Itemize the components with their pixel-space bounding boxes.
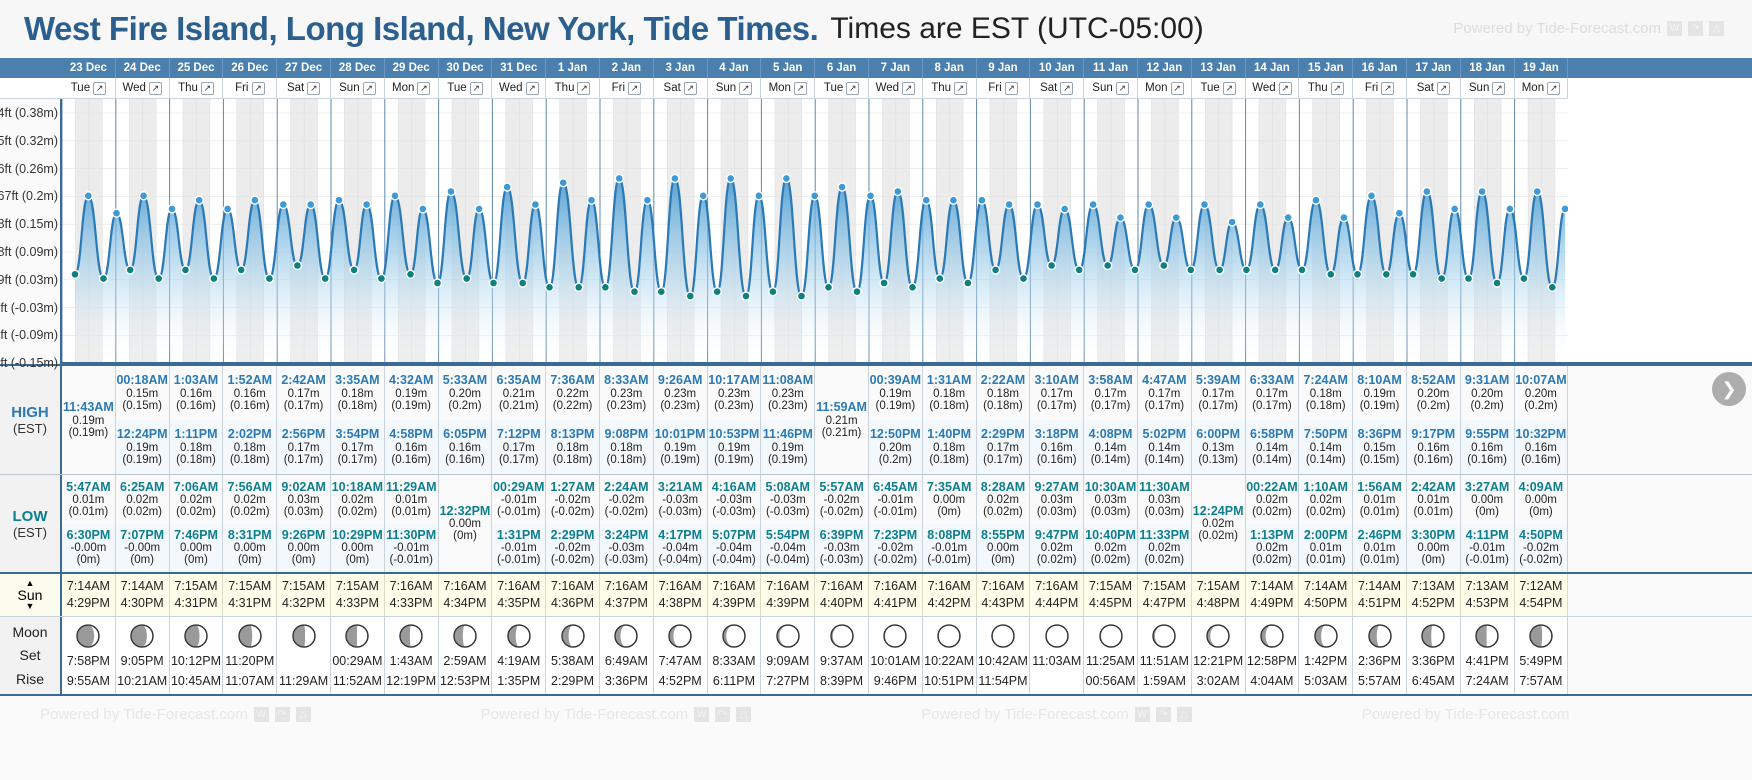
tide-height-alt: (0.18m) [553, 454, 593, 466]
date-header-18[interactable]: 10 Jan [1030, 58, 1084, 78]
tide-height: -0.01m [501, 494, 537, 506]
tide-time: 3:54PM [335, 428, 379, 441]
tide-height-alt: (-0.01m) [874, 506, 917, 518]
low-tide-event: 8:08PM-0.01m(-0.01m) [923, 524, 976, 573]
day-label: Thu [555, 82, 575, 94]
day-header-27[interactable]: Mon↗ [1515, 78, 1569, 99]
moon-phase-icon [936, 623, 962, 649]
tide-time: 10:07AM [1515, 374, 1566, 387]
expand-icon[interactable]: ↗ [628, 82, 641, 95]
date-header-16[interactable]: 8 Jan [923, 58, 977, 78]
tide-height-alt: (0.16m) [445, 454, 485, 466]
high-label-tz: (EST) [13, 421, 47, 436]
tide-time: 9:31AM [1465, 374, 1509, 387]
day-header-20[interactable]: Mon↗ [1138, 78, 1192, 99]
date-header-14[interactable]: 6 Jan [815, 58, 869, 78]
tide-time: 6:33AM [1250, 374, 1294, 387]
tide-height-alt: (-0.04m) [712, 554, 755, 566]
tide-time: 9:26AM [658, 374, 702, 387]
tide-height: 0.00m [1525, 494, 1557, 506]
tide-time: 7:23PM [873, 529, 917, 542]
moon-phase-icon [1313, 623, 1339, 649]
moon-cell: 12:58PM4:04AM [1246, 617, 1300, 694]
table-cell: 7:35AM0.00m(0m)8:08PM-0.01m(-0.01m) [923, 475, 977, 572]
expand-icon[interactable]: ↗ [1381, 82, 1394, 95]
date-header-26[interactable]: 18 Jan [1461, 58, 1515, 78]
date-header-20[interactable]: 12 Jan [1138, 58, 1192, 78]
table-cell: 1:10AM0.02m(0.02m)2:00PM0.01m(0.01m) [1299, 475, 1353, 572]
sunset-time: 4:29PM [67, 595, 110, 612]
tide-height-alt: (0m) [292, 554, 316, 566]
day-header-0[interactable]: Tue↗ [62, 78, 116, 99]
expand-icon[interactable]: ↗ [363, 82, 376, 95]
tide-height: 0.02m [1256, 494, 1288, 506]
expand-icon[interactable]: ↗ [526, 82, 539, 95]
tide-height: 0.20m [879, 442, 911, 454]
day-label: Mon [392, 82, 414, 94]
table-cell: 11:43AM0.19m(0.19m) [62, 366, 116, 474]
day-header-13[interactable]: Mon↗ [761, 78, 815, 99]
sun-cell: 7:16AM4:38PM [654, 574, 708, 616]
high-tide-event: 10:53PM0.19m(0.19m) [708, 420, 761, 474]
low-tide-event: 10:29PM0.00m(0m) [331, 524, 384, 573]
tide-height: 0.02m [341, 494, 373, 506]
expand-icon[interactable]: ↗ [1116, 82, 1129, 95]
moon-set-label: Set [19, 647, 40, 663]
expand-icon[interactable]: ↗ [201, 82, 214, 95]
moonset-time: 10:22AM [924, 654, 974, 669]
low-tide-event: 7:46PM0.00m(0m) [170, 524, 223, 573]
table-cell: 9:31AM0.20m(0.2m)9:55PM0.16m(0.16m) [1461, 366, 1515, 474]
day-header-11[interactable]: Sat↗ [654, 78, 708, 99]
day-header-10[interactable]: Fri↗ [600, 78, 654, 99]
date-header-5[interactable]: 28 Dec [331, 58, 385, 78]
date-header-2[interactable]: 25 Dec [170, 58, 224, 78]
tide-height-alt: (0.18m) [230, 454, 270, 466]
expand-icon[interactable]: ↗ [739, 82, 752, 95]
tide-height: 0.18m [987, 388, 1019, 400]
date-header-17[interactable]: 9 Jan [977, 58, 1031, 78]
moon-phase-icon [344, 623, 370, 649]
tide-height-alt: (0.2m) [1417, 400, 1450, 412]
table-cell: 9:26AM0.23m(0.23m)10:01PM0.19m(0.19m) [654, 366, 708, 474]
low-tide-event: 2:46PM0.01m(0.01m) [1353, 524, 1406, 573]
tide-height: 0.20m [449, 388, 481, 400]
low-tide-event: 7:35AM0.00m(0m) [923, 475, 976, 524]
high-tide-event: 9:26AM0.23m(0.23m) [654, 366, 707, 420]
high-tide-event: 10:17AM0.23m(0.23m) [708, 366, 761, 420]
table-cell: 7:24AM0.18m(0.18m)7:50PM0.14m(0.14m) [1299, 366, 1353, 474]
expand-icon[interactable]: ↗ [846, 82, 859, 95]
tide-height: 0.01m [72, 494, 104, 506]
y-tick-1: 1.05ft (0.32m) [0, 134, 58, 148]
sunrise-arrow-icon: ▲ [26, 580, 35, 587]
day-header-8[interactable]: Wed↗ [492, 78, 546, 99]
low-tide-event: 6:25AM0.02m(0.02m) [116, 475, 169, 524]
tide-height: 0.01m [1417, 494, 1449, 506]
day-header-5[interactable]: Sun↗ [331, 78, 385, 99]
day-label: Fri [1365, 82, 1378, 94]
tide-height: 0.00m [449, 518, 481, 530]
moonset-time: 10:01AM [870, 654, 920, 669]
tide-time: 3:58AM [1088, 374, 1132, 387]
table-cell: 2:42AM0.17m(0.17m)2:56PM0.17m(0.17m) [277, 366, 331, 474]
moonrise-time: 1:59AM [1143, 674, 1186, 689]
expand-icon[interactable]: ↗ [794, 82, 807, 95]
expand-icon[interactable]: ↗ [417, 82, 430, 95]
date-header-10[interactable]: 2 Jan [600, 58, 654, 78]
moon-cell: 2:59AM12:53PM [439, 617, 493, 694]
high-tide-event: 10:32PM0.16m(0.16m) [1515, 420, 1568, 474]
tide-height: 0.18m [557, 442, 589, 454]
tide-height-alt: (0m) [1529, 506, 1553, 518]
sun-cell: 7:16AM4:40PM [815, 574, 869, 616]
tide-height: 0.20m [1525, 388, 1557, 400]
expand-icon[interactable]: ↗ [1279, 82, 1292, 95]
sun-cell: 7:14AM4:51PM [1353, 574, 1407, 616]
expand-icon[interactable]: ↗ [307, 82, 320, 95]
tide-time: 1:27AM [550, 481, 594, 494]
tide-height-alt: (0.16m) [1037, 454, 1077, 466]
table-cell: 2:24AM-0.02m(-0.02m)3:24PM-0.03m(-0.03m) [600, 475, 654, 572]
moon-phase-icon [75, 623, 101, 649]
date-header-19[interactable]: 11 Jan [1084, 58, 1138, 78]
moon-cell: 00:29AM11:52AM [331, 617, 385, 694]
table-cell: 1:27AM-0.02m(-0.02m)2:29PM-0.02m(-0.02m) [546, 475, 600, 572]
tide-height: 0.17m [341, 442, 373, 454]
day-label: Mon [769, 82, 791, 94]
day-header-21[interactable]: Tue↗ [1192, 78, 1246, 99]
tide-height-alt: (0.13m) [1198, 454, 1238, 466]
tide-height: 0.02m [1148, 542, 1180, 554]
table-cell: 12:24PM0.02m(0.02m) [1192, 475, 1246, 572]
sunrise-time: 7:14AM [1304, 578, 1347, 595]
y-tick-3: 0.67ft (0.2m) [0, 189, 58, 203]
date-header-6[interactable]: 29 Dec [385, 58, 439, 78]
tide-height: -0.02m [877, 542, 913, 554]
sunrise-time: 7:16AM [659, 578, 702, 595]
moonrise-time: 9:55AM [67, 674, 110, 689]
date-header-9[interactable]: 1 Jan [546, 58, 600, 78]
tide-height: -0.01m [931, 542, 967, 554]
day-header-17[interactable]: Fri↗ [977, 78, 1031, 99]
high-tide-event: 8:52AM0.20m(0.2m) [1407, 366, 1460, 420]
day-header-26[interactable]: Sun↗ [1461, 78, 1515, 99]
sunset-time: 4:48PM [1197, 595, 1240, 612]
chart-plot-area[interactable] [62, 99, 1752, 364]
moonset-time: 9:37AM [820, 654, 863, 669]
tide-height-alt: (-0.02m) [820, 506, 863, 518]
moonrise-time: 6:45AM [1412, 674, 1455, 689]
expand-icon[interactable]: ↗ [1005, 82, 1018, 95]
sunset-time: 4:33PM [390, 595, 433, 612]
moonrise-time: 1:35PM [497, 674, 540, 689]
table-cell: 4:47AM0.17m(0.17m)5:02PM0.14m(0.14m) [1138, 366, 1192, 474]
high-label-text: HIGH [11, 404, 49, 421]
tide-height-alt: (0.14m) [1306, 454, 1346, 466]
expand-icon[interactable]: ↗ [1060, 82, 1073, 95]
day-header-6[interactable]: Mon↗ [385, 78, 439, 99]
tide-height-alt: (-0.02m) [551, 554, 594, 566]
expand-icon[interactable]: ↗ [902, 82, 915, 95]
date-header-13[interactable]: 5 Jan [761, 58, 815, 78]
day-header-14[interactable]: Tue↗ [815, 78, 869, 99]
tide-height: -0.03m [770, 494, 806, 506]
date-header-22[interactable]: 14 Jan [1246, 58, 1300, 78]
sunset-time: 4:49PM [1250, 595, 1293, 612]
low-tide-event: 10:30AM0.03m(0.03m) [1084, 475, 1137, 524]
refresh-icon: ↷ [275, 707, 290, 722]
tide-height: 0.19m [772, 442, 804, 454]
expand-icon[interactable]: ↗ [1492, 82, 1505, 95]
table-cell: 11:59AM0.21m(0.21m) [815, 366, 869, 474]
tide-height: 0.02m [1041, 542, 1073, 554]
tide-height: 0.03m [288, 494, 320, 506]
tide-height: -0.02m [824, 494, 860, 506]
sun-cell: 7:16AM4:36PM [546, 574, 600, 616]
date-header-4[interactable]: 27 Dec [277, 58, 331, 78]
tide-height-alt: (0.03m) [1091, 506, 1131, 518]
tide-time: 2:42AM [281, 374, 325, 387]
tide-time: 5:07PM [712, 529, 756, 542]
tide-height-alt: (-0.04m) [766, 554, 809, 566]
expand-icon[interactable]: ↗ [1547, 82, 1560, 95]
day-header-19[interactable]: Sun↗ [1084, 78, 1138, 99]
tide-height-alt: (0m) [130, 554, 154, 566]
tide-time: 11:33PM [1139, 529, 1189, 542]
low-tide-event: 11:29AM0.01m(0.01m) [385, 475, 438, 524]
day-header-corner [0, 78, 62, 99]
sunrise-time: 7:12AM [1519, 578, 1562, 595]
refresh-icon: ↷ [1688, 21, 1703, 36]
tide-height: -0.03m [608, 542, 644, 554]
expand-icon[interactable]: ↗ [93, 82, 106, 95]
moonset-time: 7:47AM [659, 654, 702, 669]
sun-cell: 7:16AM4:34PM [439, 574, 493, 616]
high-tide-event: 8:36PM0.15m(0.15m) [1353, 420, 1406, 474]
high-tide-cells: 11:43AM0.19m(0.19m)00:18AM0.15m(0.15m)12… [62, 366, 1752, 474]
tide-height-alt: (0.02m) [176, 506, 216, 518]
high-tide-event: 10:07AM0.20m(0.2m) [1515, 366, 1568, 420]
y-tick-7: -0.1ft (-0.03m) [0, 301, 58, 315]
moon-phase-icon [667, 623, 693, 649]
expand-icon[interactable]: ↗ [470, 82, 483, 95]
moonset-time: 6:49AM [605, 654, 648, 669]
day-header-12[interactable]: Sun↗ [708, 78, 762, 99]
moonrise-time: 9:46PM [874, 674, 917, 689]
low-tide-event: 9:47PM0.02m(0.02m) [1030, 524, 1083, 573]
day-header-22[interactable]: Wed↗ [1246, 78, 1300, 99]
tide-height: -0.04m [770, 542, 806, 554]
tide-height-alt: (0.02m) [983, 506, 1023, 518]
low-tide-event: 11:30AM0.03m(0.03m) [1138, 475, 1191, 524]
moon-cell: 9:09AM7:27PM [761, 617, 815, 694]
tide-height: 0.14m [1148, 442, 1180, 454]
moonrise-time: 3:36PM [605, 674, 648, 689]
date-header-15[interactable]: 7 Jan [869, 58, 923, 78]
expand-icon[interactable]: ↗ [684, 82, 697, 95]
day-header-24[interactable]: Fri↗ [1353, 78, 1407, 99]
tide-height-alt: (0.17m) [284, 400, 324, 412]
day-header-3[interactable]: Fri↗ [223, 78, 277, 99]
date-header-23[interactable]: 15 Jan [1299, 58, 1353, 78]
tide-time: 3:27AM [1465, 481, 1509, 494]
expand-icon[interactable]: ↗ [1171, 82, 1184, 95]
moonset-time: 11:03AM [1032, 654, 1081, 669]
footer-watermark-1: Powered by Tide-Forecast.com W ↷ △ [40, 706, 311, 723]
tide-height: -0.03m [716, 494, 752, 506]
tide-height: 0.19m [664, 442, 696, 454]
sunrise-time: 7:15AM [1089, 578, 1132, 595]
tide-time: 7:36AM [550, 374, 594, 387]
date-header-11[interactable]: 3 Jan [654, 58, 708, 78]
expand-icon[interactable]: ↗ [1331, 82, 1344, 95]
tide-height: 0.15m [1364, 442, 1396, 454]
tide-height: -0.01m [501, 542, 537, 554]
low-tide-event: 5:57AM-0.02m(-0.02m) [815, 475, 868, 524]
tide-time: 7:06AM [174, 481, 218, 494]
high-tide-event: 2:56PM0.17m(0.17m) [277, 420, 330, 474]
tide-time: 8:13PM [551, 428, 595, 441]
tide-time: 12:24PM [1193, 505, 1244, 518]
high-tide-event: 2:22AM0.18m(0.18m) [977, 366, 1030, 420]
expand-icon[interactable]: ↗ [149, 82, 162, 95]
day-header-16[interactable]: Thu↗ [923, 78, 977, 99]
tide-time: 1:52AM [228, 374, 272, 387]
tide-height-alt: (0.02m) [1252, 554, 1292, 566]
tide-height: 0.18m [1310, 388, 1342, 400]
moon-phase-icon [452, 623, 478, 649]
day-header-9[interactable]: Thu↗ [546, 78, 600, 99]
tide-time: 00:22AM [1246, 481, 1297, 494]
tide-height: 0.02m [987, 494, 1019, 506]
date-header-1[interactable]: 24 Dec [116, 58, 170, 78]
expand-icon[interactable]: ↗ [954, 82, 967, 95]
day-header-7[interactable]: Tue↗ [439, 78, 493, 99]
tide-height: 0.17m [1202, 388, 1234, 400]
day-header-1[interactable]: Wed↗ [116, 78, 170, 99]
sunrise-time: 7:16AM [605, 578, 648, 595]
day-header-25[interactable]: Sat↗ [1407, 78, 1461, 99]
tide-height: 0.00m [1417, 542, 1449, 554]
high-tide-event: 11:46PM0.19m(0.19m) [761, 420, 814, 474]
date-header-3[interactable]: 26 Dec [223, 58, 277, 78]
day-label: Sun [339, 82, 359, 94]
sunrise-time: 7:16AM [1035, 578, 1078, 595]
high-tide-event: 11:43AM0.19m(0.19m) [62, 366, 115, 474]
tide-time: 6:00PM [1196, 428, 1240, 441]
table-cell: 3:21AM-0.03m(-0.03m)4:17PM-0.04m(-0.04m) [654, 475, 708, 572]
low-tide-event: 6:45AM-0.01m(-0.01m) [869, 475, 922, 524]
tide-time: 11:30AM [1139, 481, 1190, 494]
high-tide-event: 12:50PM0.20m(0.2m) [869, 420, 922, 474]
day-header-4[interactable]: Sat↗ [277, 78, 331, 99]
tide-time: 10:01PM [655, 428, 706, 441]
tide-time: 3:24PM [604, 529, 648, 542]
day-header-18[interactable]: Sat↗ [1030, 78, 1084, 99]
tide-height-alt: (0m) [77, 554, 101, 566]
sunrise-time: 7:15AM [1143, 578, 1186, 595]
sun-cell: 7:15AM4:31PM [170, 574, 224, 616]
sunset-time: 4:41PM [874, 595, 917, 612]
expand-icon[interactable]: ↗ [1437, 82, 1450, 95]
sunset-time: 4:31PM [228, 595, 271, 612]
high-tide-event: 6:33AM0.17m(0.17m) [1246, 366, 1299, 420]
date-header-25[interactable]: 17 Jan [1407, 58, 1461, 78]
high-tide-event: 1:11PM0.18m(0.18m) [170, 420, 223, 474]
tide-height: 0.17m [288, 388, 320, 400]
tide-height: -0.03m [824, 542, 860, 554]
date-header-27[interactable]: 19 Jan [1515, 58, 1569, 78]
expand-icon[interactable]: ↗ [252, 82, 265, 95]
date-header-12[interactable]: 4 Jan [708, 58, 762, 78]
tide-height-alt: (0m) [1475, 506, 1499, 518]
sunset-time: 4:38PM [659, 595, 702, 612]
date-header-21[interactable]: 13 Jan [1192, 58, 1246, 78]
day-label: Wed [876, 82, 899, 94]
high-tide-event: 5:02PM0.14m(0.14m) [1138, 420, 1191, 474]
sun-cell: 7:15AM4:33PM [331, 574, 385, 616]
tide-time: 2:46PM [1358, 529, 1402, 542]
tide-time: 8:36PM [1358, 428, 1402, 441]
moon-cell: 10:12PM10:45AM [170, 617, 224, 694]
tide-height: 0.23m [664, 388, 696, 400]
expand-icon[interactable]: ↗ [577, 82, 590, 95]
tide-height: 0.17m [503, 442, 535, 454]
tide-time: 11:30PM [386, 529, 436, 542]
date-header-7[interactable]: 30 Dec [439, 58, 493, 78]
tide-height-alt: (0.2m) [1524, 400, 1557, 412]
tide-time: 8:08PM [927, 529, 971, 542]
date-header-0[interactable]: 23 Dec [62, 58, 116, 78]
day-header-15[interactable]: Wed↗ [869, 78, 923, 99]
moonrise-time: 7:24AM [1466, 674, 1509, 689]
tide-height-alt: (0.17m) [1091, 400, 1131, 412]
moon-cell: 10:01AM9:46PM [869, 617, 923, 694]
tide-height-alt: (0.17m) [338, 454, 378, 466]
table-cell: 8:10AM0.19m(0.19m)8:36PM0.15m(0.15m) [1353, 366, 1407, 474]
high-tide-event: 3:35AM0.18m(0.18m) [331, 366, 384, 420]
low-tide-event: 4:17PM-0.04m(-0.04m) [654, 524, 707, 573]
high-tide-event: 2:29PM0.17m(0.17m) [977, 420, 1030, 474]
tide-height: -0.01m [393, 542, 429, 554]
tide-height-alt: (0.18m) [983, 400, 1023, 412]
table-cell: 1:52AM0.16m(0.16m)2:02PM0.18m(0.18m) [223, 366, 277, 474]
expand-icon[interactable]: ↗ [1223, 82, 1236, 95]
moon-phase-icon [721, 623, 747, 649]
date-header-24[interactable]: 16 Jan [1353, 58, 1407, 78]
tide-time: 00:39AM [870, 374, 921, 387]
sun-cell: 7:16AM4:39PM [708, 574, 762, 616]
tide-height: -0.01m [1469, 542, 1505, 554]
day-header-2[interactable]: Thu↗ [170, 78, 224, 99]
next-page-button[interactable]: ❯ [1712, 372, 1746, 406]
day-header-23[interactable]: Thu↗ [1299, 78, 1353, 99]
tide-height-alt: (-0.01m) [1465, 554, 1508, 566]
tide-time: 12:50PM [870, 428, 921, 441]
date-header-8[interactable]: 31 Dec [492, 58, 546, 78]
table-cell: 00:29AM-0.01m(-0.01m)1:31PM-0.01m(-0.01m… [492, 475, 546, 572]
tide-height-alt: (0.02m) [1037, 554, 1077, 566]
low-tide-event: 7:56AM0.02m(0.02m) [223, 475, 276, 524]
high-tide-event: 2:42AM0.17m(0.17m) [277, 366, 330, 420]
footer-text-4: Powered by Tide-Forecast.com [1362, 706, 1570, 723]
low-tide-event: 5:08AM-0.03m(-0.03m) [761, 475, 814, 524]
sun-cell: 7:14AM4:49PM [1246, 574, 1300, 616]
tide-time: 6:30PM [67, 529, 111, 542]
low-tide-event: 1:10AM0.02m(0.02m) [1299, 475, 1352, 524]
high-tide-event: 8:13PM0.18m(0.18m) [546, 420, 599, 474]
